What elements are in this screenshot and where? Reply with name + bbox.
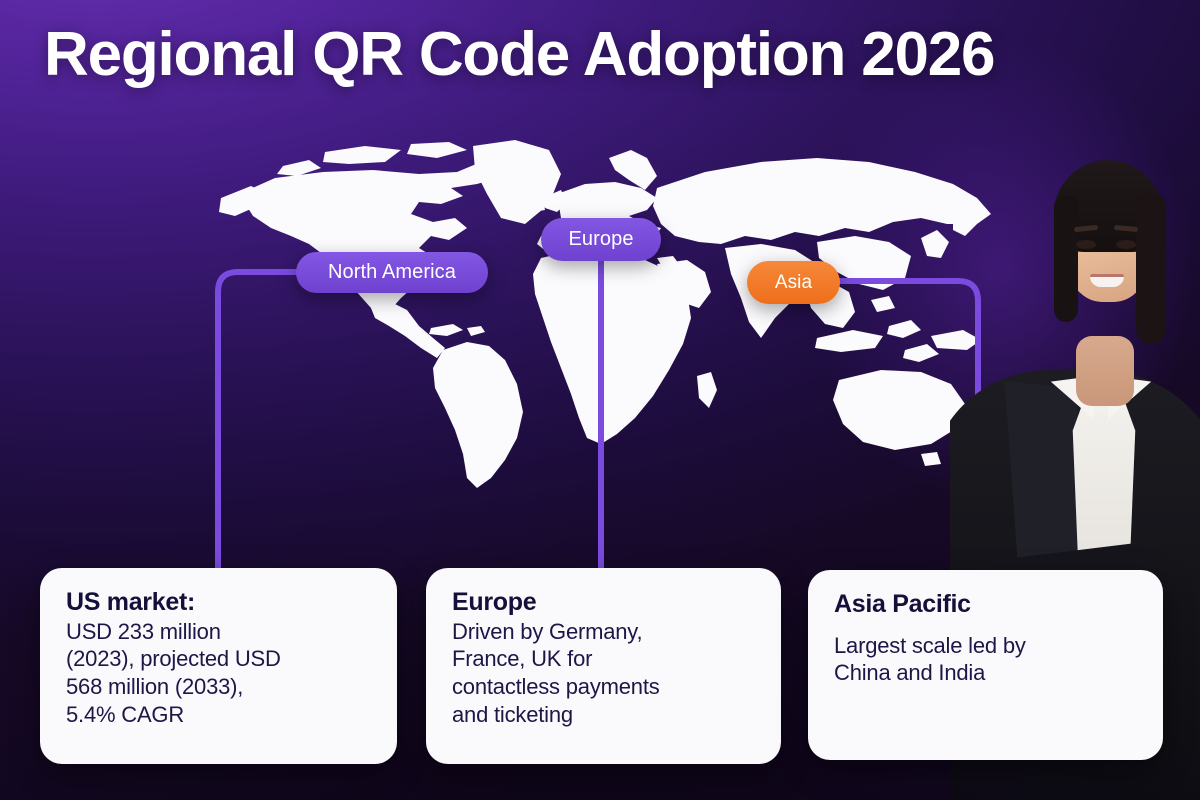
info-card-asia-pacific[interactable]: Asia Pacific Largest scale led by China … bbox=[808, 570, 1163, 760]
infographic-canvas: Regional QR Code Adoption 2026 North Ame… bbox=[0, 0, 1200, 800]
map-pill-north-america[interactable]: North America bbox=[296, 252, 488, 293]
info-card-europe[interactable]: Europe Driven by Germany, France, UK for… bbox=[426, 568, 781, 764]
card-title: Europe bbox=[452, 588, 759, 618]
card-title: US market: bbox=[66, 588, 375, 618]
world-map bbox=[205, 132, 1005, 492]
map-pill-europe[interactable]: Europe bbox=[541, 218, 661, 261]
info-card-us-market[interactable]: US market: USD 233 million (2023), proje… bbox=[40, 568, 397, 764]
page-title: Regional QR Code Adoption 2026 bbox=[44, 22, 1164, 87]
map-pill-asia[interactable]: Asia bbox=[747, 261, 840, 304]
card-body: USD 233 million (2023), projected USD 56… bbox=[66, 618, 375, 729]
card-title: Asia Pacific bbox=[834, 590, 1141, 620]
card-body: Largest scale led by China and India bbox=[834, 632, 1141, 687]
card-body: Driven by Germany, France, UK for contac… bbox=[452, 618, 759, 729]
